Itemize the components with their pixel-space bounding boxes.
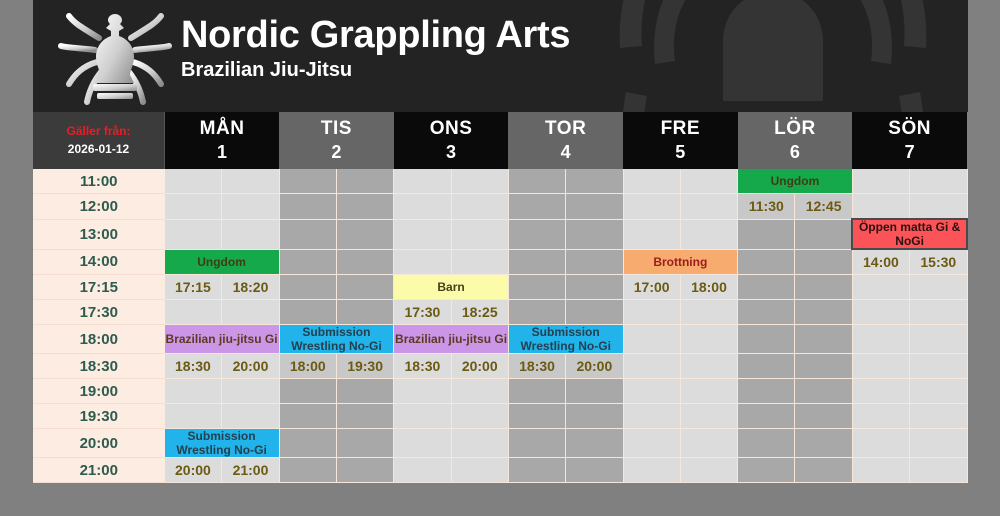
event-block[interactable]: Brottning	[623, 249, 738, 275]
empty-slot	[680, 404, 737, 429]
empty-slot	[394, 379, 451, 404]
table-row: 11:00Ungdom	[33, 169, 967, 194]
empty-slot	[279, 219, 336, 249]
empty-slot	[566, 429, 623, 458]
table-row: 13:00Öppen matta Gi & NoGi	[33, 219, 967, 249]
day-header-name: FRE	[623, 117, 738, 140]
empty-slot	[623, 404, 680, 429]
empty-slot	[566, 275, 623, 300]
event-block[interactable]: Barn	[394, 275, 509, 300]
empty-slot	[852, 325, 909, 354]
empty-slot	[680, 300, 737, 325]
time-label: 19:30	[33, 404, 165, 429]
time-label: 11:00	[33, 169, 165, 194]
page-title: Nordic Grappling Arts	[181, 13, 570, 57]
schedule-header-row: Gäller från: 2026-01-12 MÅN1TIS2ONS3TOR4…	[33, 112, 967, 169]
event-start-time: 17:15	[165, 275, 222, 300]
empty-slot	[394, 219, 451, 249]
event-start-time: 17:30	[394, 300, 451, 325]
empty-slot	[279, 275, 336, 300]
empty-slot	[795, 379, 852, 404]
empty-slot	[738, 249, 795, 275]
empty-slot	[680, 429, 737, 458]
day-header-number: 5	[623, 140, 738, 164]
empty-slot	[680, 354, 737, 379]
empty-slot	[852, 169, 909, 194]
time-label: 18:30	[33, 354, 165, 379]
day-header-ons[interactable]: ONS3	[394, 112, 509, 169]
empty-slot	[508, 379, 565, 404]
empty-slot	[336, 219, 393, 249]
empty-slot	[451, 458, 508, 483]
empty-slot	[852, 194, 909, 220]
header-banner: Nordic Grappling Arts Brazilian Jiu-Jits…	[33, 0, 968, 112]
schedule-page: Nordic Grappling Arts Brazilian Jiu-Jits…	[0, 0, 1000, 516]
empty-slot	[508, 404, 565, 429]
day-header-name: MÅN	[165, 117, 279, 140]
time-label: 17:30	[33, 300, 165, 325]
day-header-number: 4	[508, 140, 623, 164]
empty-slot	[279, 300, 336, 325]
empty-slot	[795, 275, 852, 300]
empty-slot	[680, 219, 737, 249]
empty-slot	[623, 429, 680, 458]
empty-slot	[795, 429, 852, 458]
empty-slot	[336, 169, 393, 194]
empty-slot	[910, 354, 967, 379]
day-header-lör[interactable]: LÖR6	[738, 112, 853, 169]
empty-slot	[279, 404, 336, 429]
empty-slot	[394, 169, 451, 194]
event-start-time: 18:30	[165, 354, 222, 379]
empty-slot	[795, 300, 852, 325]
empty-slot	[910, 325, 967, 354]
event-start-time: 18:30	[508, 354, 565, 379]
day-header-name: SÖN	[852, 117, 967, 140]
table-row: 17:3017:3018:25	[33, 300, 967, 325]
empty-slot	[165, 379, 222, 404]
empty-slot	[910, 379, 967, 404]
event-block[interactable]: Submission Wrestling No-Gi	[165, 429, 280, 458]
empty-slot	[852, 275, 909, 300]
empty-slot	[623, 458, 680, 483]
empty-slot	[222, 194, 279, 220]
empty-slot	[566, 194, 623, 220]
time-label: 12:00	[33, 194, 165, 220]
event-start-time: 18:00	[279, 354, 336, 379]
spider-chess-piece-logo-icon	[55, 4, 175, 110]
empty-slot	[910, 169, 967, 194]
time-label: 18:00	[33, 325, 165, 354]
empty-slot	[680, 169, 737, 194]
event-end-time: 20:00	[222, 354, 279, 379]
empty-slot	[852, 300, 909, 325]
empty-slot	[394, 458, 451, 483]
empty-slot	[852, 429, 909, 458]
empty-slot	[738, 275, 795, 300]
event-end-time: 18:00	[680, 275, 737, 300]
empty-slot	[910, 458, 967, 483]
day-header-number: 7	[852, 140, 967, 164]
empty-slot	[566, 458, 623, 483]
empty-slot	[279, 249, 336, 275]
empty-slot	[852, 404, 909, 429]
empty-slot	[852, 354, 909, 379]
empty-slot	[336, 379, 393, 404]
empty-slot	[508, 458, 565, 483]
empty-slot	[623, 169, 680, 194]
empty-slot	[336, 429, 393, 458]
event-end-time: 12:45	[795, 194, 852, 220]
empty-slot	[394, 404, 451, 429]
empty-slot	[222, 379, 279, 404]
empty-slot	[910, 404, 967, 429]
empty-slot	[566, 219, 623, 249]
event-block[interactable]: Brazilian jiu-jitsu Gi	[394, 325, 509, 354]
time-label: 20:00	[33, 429, 165, 458]
empty-slot	[795, 249, 852, 275]
time-label: 13:00	[33, 219, 165, 249]
table-row: 19:00	[33, 379, 967, 404]
table-row: 18:00Brazilian jiu-jitsu GiSubmission Wr…	[33, 325, 967, 354]
empty-slot	[336, 404, 393, 429]
empty-slot	[451, 194, 508, 220]
empty-slot	[623, 379, 680, 404]
empty-slot	[795, 458, 852, 483]
schedule-body: 11:00Ungdom12:0011:3012:4513:00Öppen mat…	[33, 169, 967, 483]
empty-slot	[165, 169, 222, 194]
valid-from-date: 2026-01-12	[33, 140, 164, 159]
empty-slot	[165, 300, 222, 325]
empty-slot	[394, 249, 451, 275]
empty-slot	[222, 404, 279, 429]
event-end-time: 20:00	[566, 354, 623, 379]
table-row: 17:1517:1518:20Barn17:0018:00	[33, 275, 967, 300]
empty-slot	[680, 379, 737, 404]
empty-slot	[222, 169, 279, 194]
day-header-name: LÖR	[738, 117, 853, 140]
empty-slot	[910, 194, 967, 220]
empty-slot	[336, 300, 393, 325]
time-label: 19:00	[33, 379, 165, 404]
event-block[interactable]: Brazilian jiu-jitsu Gi	[165, 325, 280, 354]
title-block: Nordic Grappling Arts Brazilian Jiu-Jits…	[181, 13, 570, 82]
empty-slot	[738, 458, 795, 483]
empty-slot	[451, 219, 508, 249]
empty-slot	[623, 325, 680, 354]
empty-slot	[566, 169, 623, 194]
empty-slot	[165, 219, 222, 249]
day-header-fre[interactable]: FRE5	[623, 112, 738, 169]
event-start-time: 18:30	[394, 354, 451, 379]
empty-slot	[795, 354, 852, 379]
empty-slot	[910, 429, 967, 458]
empty-slot	[680, 194, 737, 220]
table-row: 20:00Submission Wrestling No-Gi	[33, 429, 967, 458]
empty-slot	[623, 219, 680, 249]
empty-slot	[738, 379, 795, 404]
empty-slot	[451, 249, 508, 275]
day-header-mån[interactable]: MÅN1	[165, 112, 280, 169]
empty-slot	[738, 300, 795, 325]
empty-slot	[566, 404, 623, 429]
table-row: 21:0020:0021:00	[33, 458, 967, 483]
event-block[interactable]: Ungdom	[165, 249, 280, 275]
event-start-time: 17:00	[623, 275, 680, 300]
table-row: 12:0011:3012:45	[33, 194, 967, 220]
empty-slot	[508, 429, 565, 458]
empty-slot	[566, 379, 623, 404]
empty-slot	[336, 458, 393, 483]
empty-slot	[451, 429, 508, 458]
spider-chess-watermark-icon	[608, 0, 938, 112]
time-label: 17:15	[33, 275, 165, 300]
empty-slot	[738, 404, 795, 429]
day-header-name: TIS	[279, 117, 394, 140]
empty-slot	[910, 275, 967, 300]
empty-slot	[738, 429, 795, 458]
valid-from-cell: Gäller från: 2026-01-12	[33, 112, 165, 169]
event-start-time: 14:00	[852, 249, 909, 275]
empty-slot	[680, 325, 737, 354]
empty-slot	[336, 249, 393, 275]
empty-slot	[451, 169, 508, 194]
event-block[interactable]: Submission Wrestling No-Gi	[279, 325, 394, 354]
event-end-time: 21:00	[222, 458, 279, 483]
empty-slot	[738, 219, 795, 249]
table-row: 18:3018:3020:0018:0019:3018:3020:0018:30…	[33, 354, 967, 379]
empty-slot	[508, 249, 565, 275]
empty-slot	[623, 300, 680, 325]
event-end-time: 19:30	[336, 354, 393, 379]
empty-slot	[394, 194, 451, 220]
empty-slot	[394, 429, 451, 458]
day-header-number: 6	[738, 140, 853, 164]
empty-slot	[910, 300, 967, 325]
empty-slot	[279, 194, 336, 220]
empty-slot	[222, 219, 279, 249]
event-block[interactable]: Öppen matta Gi & NoGi	[852, 219, 967, 249]
empty-slot	[795, 219, 852, 249]
empty-slot	[451, 404, 508, 429]
empty-slot	[566, 300, 623, 325]
empty-slot	[222, 300, 279, 325]
day-header-name: TOR	[508, 117, 623, 140]
empty-slot	[165, 404, 222, 429]
empty-slot	[508, 275, 565, 300]
event-block[interactable]: Ungdom	[738, 169, 853, 194]
empty-slot	[279, 169, 336, 194]
empty-slot	[566, 249, 623, 275]
event-end-time: 18:20	[222, 275, 279, 300]
day-header-number: 2	[279, 140, 394, 164]
empty-slot	[336, 275, 393, 300]
event-end-time: 15:30	[910, 249, 967, 275]
empty-slot	[738, 325, 795, 354]
table-row: 14:00UngdomBrottning14:0015:30	[33, 249, 967, 275]
day-header-sön[interactable]: SÖN7	[852, 112, 967, 169]
empty-slot	[279, 429, 336, 458]
schedule-table: Gäller från: 2026-01-12 MÅN1TIS2ONS3TOR4…	[33, 112, 968, 483]
day-header-tis[interactable]: TIS2	[279, 112, 394, 169]
day-header-tor[interactable]: TOR4	[508, 112, 623, 169]
time-label: 21:00	[33, 458, 165, 483]
event-start-time: 20:00	[165, 458, 222, 483]
empty-slot	[508, 300, 565, 325]
empty-slot	[852, 458, 909, 483]
empty-slot	[623, 354, 680, 379]
empty-slot	[623, 194, 680, 220]
empty-slot	[795, 325, 852, 354]
empty-slot	[680, 458, 737, 483]
empty-slot	[508, 194, 565, 220]
event-block[interactable]: Submission Wrestling No-Gi	[508, 325, 623, 354]
day-header-number: 1	[165, 140, 279, 164]
page-subtitle: Brazilian Jiu-Jitsu	[181, 58, 570, 82]
empty-slot	[279, 458, 336, 483]
event-end-time: 20:00	[451, 354, 508, 379]
empty-slot	[336, 194, 393, 220]
empty-slot	[165, 194, 222, 220]
day-header-name: ONS	[394, 117, 509, 140]
valid-from-label: Gäller från:	[33, 123, 164, 140]
time-label: 14:00	[33, 249, 165, 275]
empty-slot	[852, 379, 909, 404]
event-start-time: 11:30	[738, 194, 795, 220]
event-end-time: 18:25	[451, 300, 508, 325]
empty-slot	[508, 169, 565, 194]
empty-slot	[451, 379, 508, 404]
empty-slot	[279, 379, 336, 404]
table-row: 19:30	[33, 404, 967, 429]
empty-slot	[795, 404, 852, 429]
empty-slot	[508, 219, 565, 249]
empty-slot	[738, 354, 795, 379]
day-header-number: 3	[394, 140, 509, 164]
